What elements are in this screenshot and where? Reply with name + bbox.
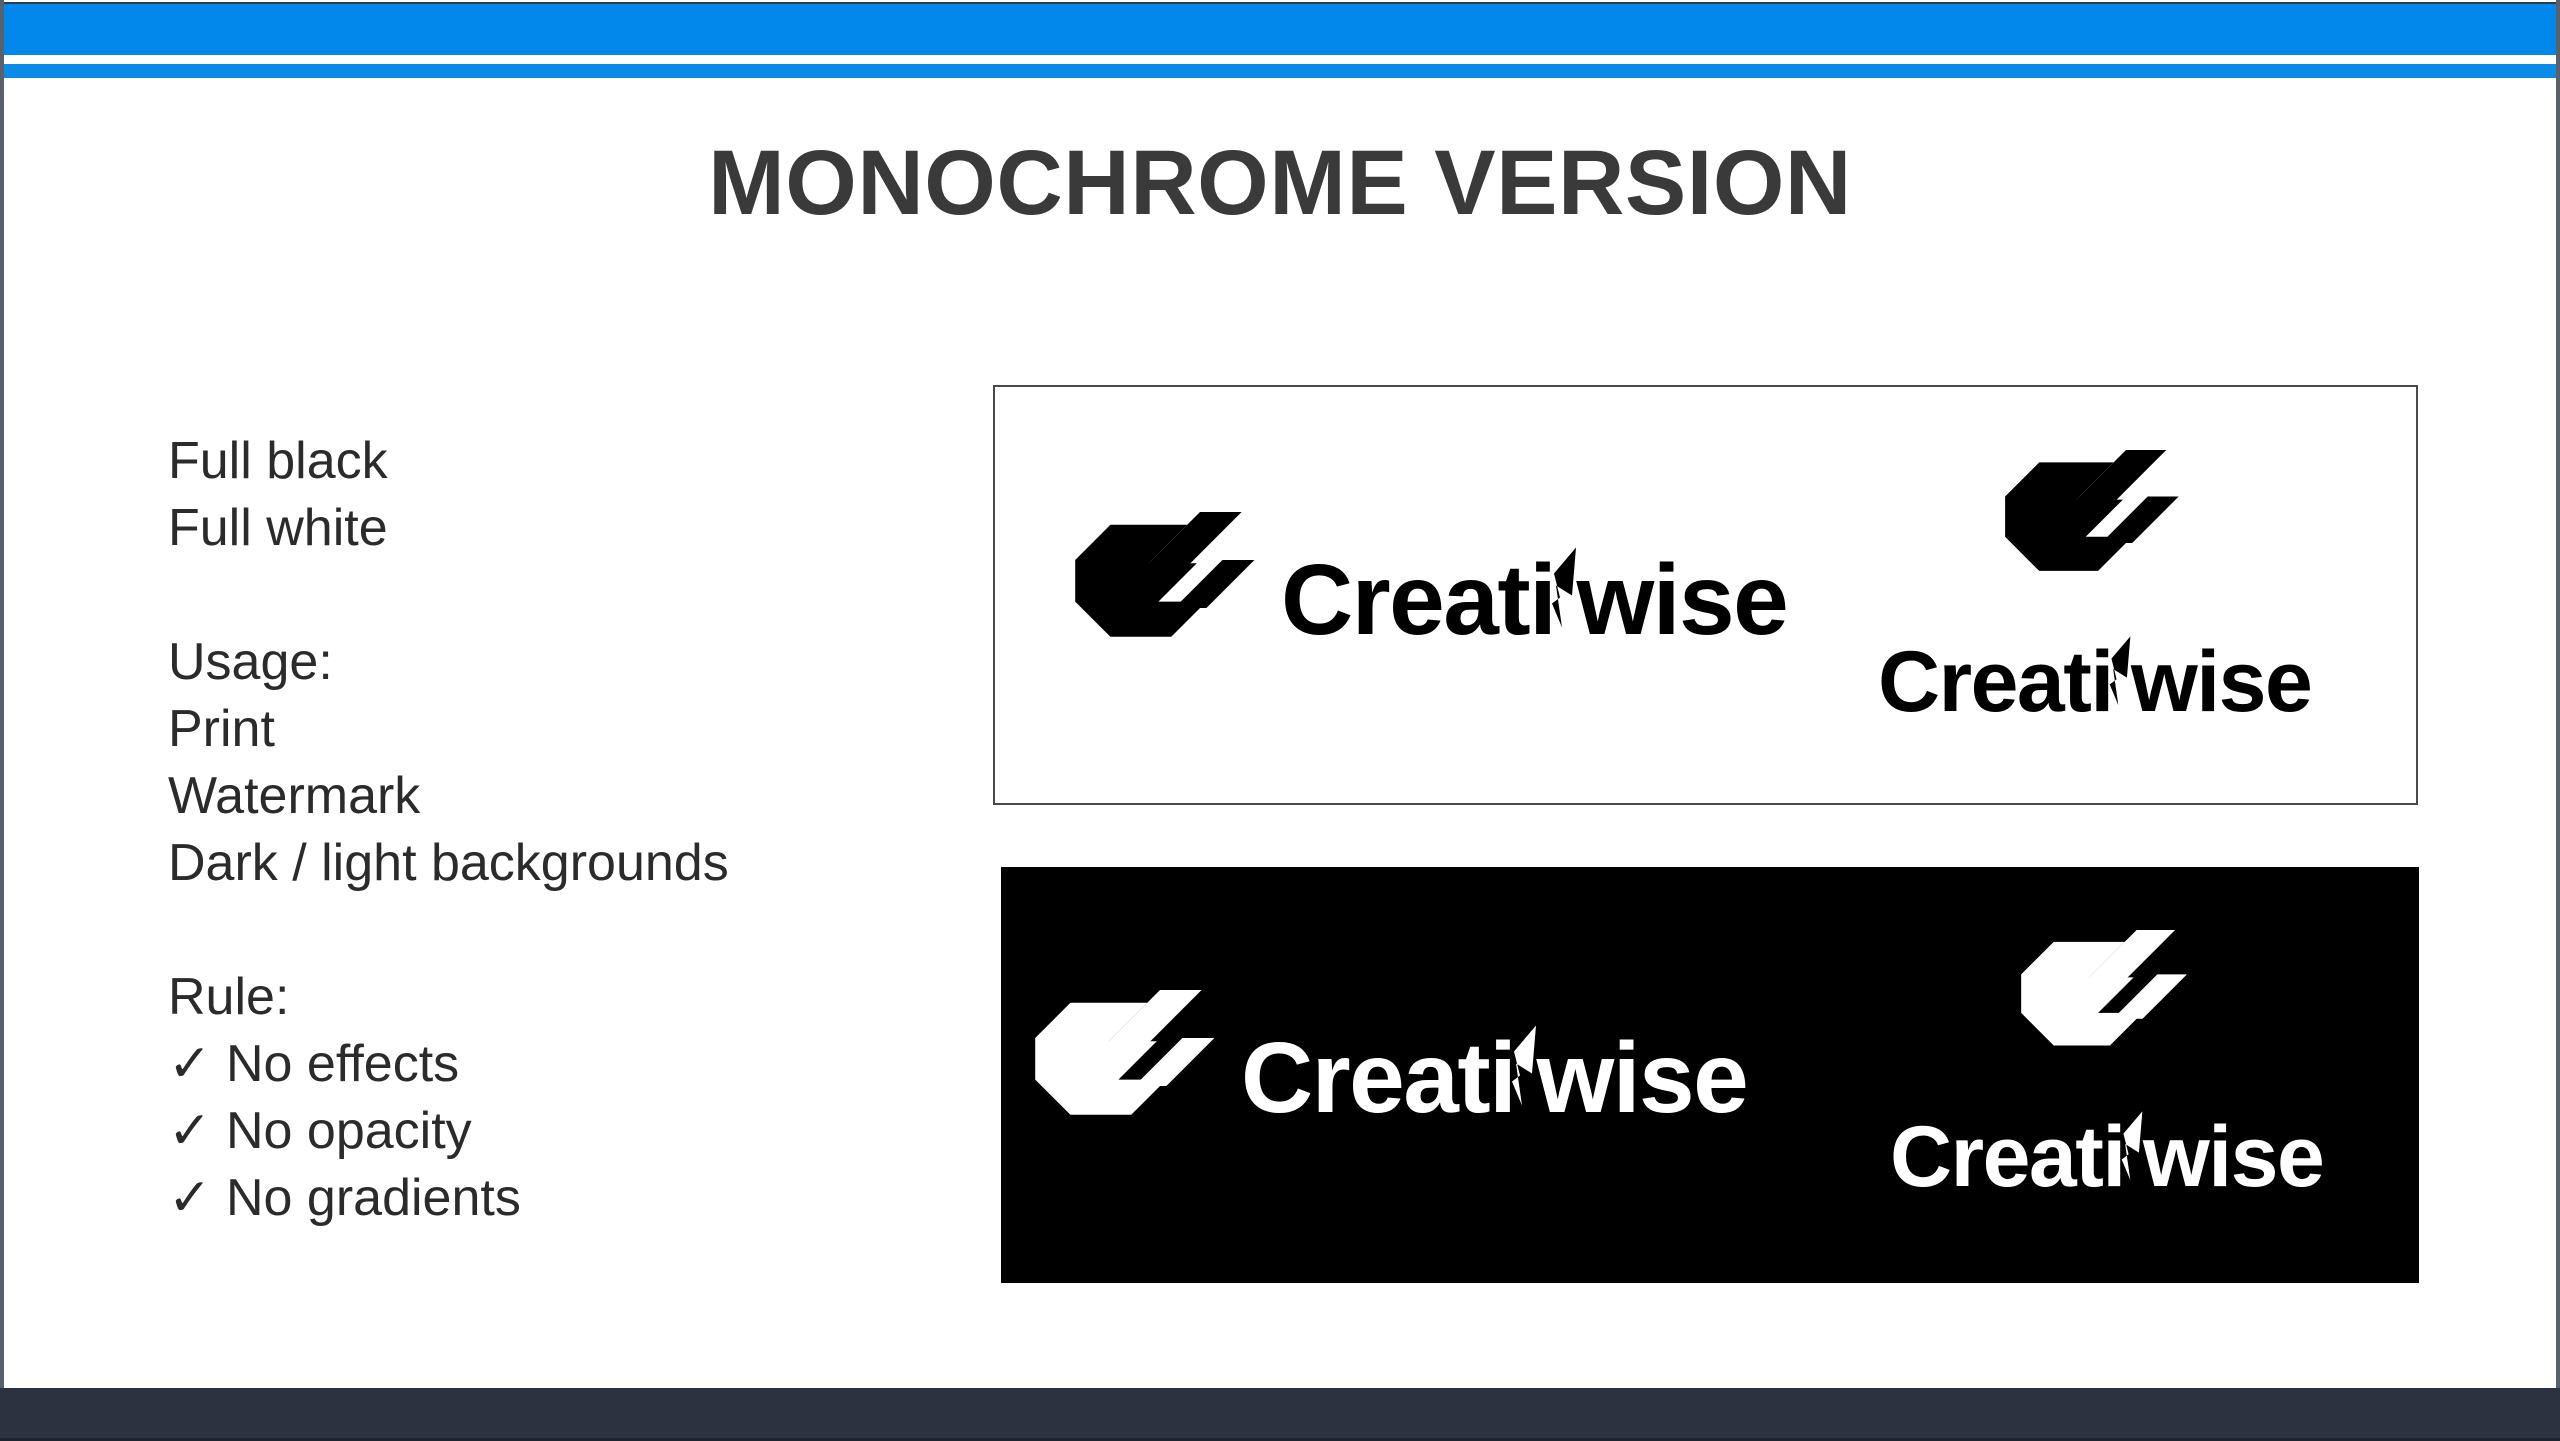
color-line-full-white: Full white <box>168 495 908 562</box>
rule-item-label: No gradients <box>226 1165 521 1232</box>
rule-heading: Rule: <box>168 964 908 1031</box>
creatiwise-mark-icon <box>1075 512 1261 672</box>
accent-bar-thin <box>4 64 2556 78</box>
spark-bolt-icon <box>2120 1100 2146 1186</box>
page-title: MONOCHROME VERSION <box>0 133 2560 234</box>
check-icon: ✓ <box>168 1165 226 1232</box>
spacer-2 <box>168 897 908 964</box>
logo-lockup-horizontal-white: Creatiwise <box>1035 990 1747 1150</box>
wordmark-part-creati: Creati <box>1241 1028 1515 1128</box>
rule-item-label: No effects <box>226 1031 459 1098</box>
top-accent-bars <box>0 0 2560 82</box>
wordmark-part-wise: wise <box>2143 1114 2323 1200</box>
wordmark-part-wise: wise <box>1536 1028 1747 1128</box>
guidelines-text-block: Full black Full white Usage: Print Water… <box>168 428 908 1232</box>
rule-item-no-effects: ✓ No effects <box>168 1031 908 1098</box>
rule-item-label: No opacity <box>226 1098 472 1165</box>
usage-item-watermark: Watermark <box>168 763 908 830</box>
spacer-1 <box>168 562 908 629</box>
usage-item-backgrounds: Dark / light backgrounds <box>168 830 908 897</box>
wordmark-part-creati: Creati <box>1890 1114 2125 1200</box>
rule-item-no-opacity: ✓ No opacity <box>168 1098 908 1165</box>
creatiwise-wordmark: Creatiwise <box>1878 625 2311 725</box>
spark-bolt-icon <box>1550 534 1580 634</box>
logo-lockup-horizontal-black: Creatiwise <box>1075 512 1787 672</box>
logo-lockup-stacked-black: Creatiwise <box>1878 450 2311 725</box>
rule-item-no-gradients: ✓ No gradients <box>168 1165 908 1232</box>
creatiwise-wordmark: Creatiwise <box>1281 534 1787 650</box>
creatiwise-mark-icon <box>2005 450 2185 605</box>
slide-canvas: MONOCHROME VERSION Full black Full white… <box>0 0 2560 1441</box>
creatiwise-wordmark: Creatiwise <box>1241 1012 1747 1128</box>
creatiwise-mark-icon <box>1035 990 1221 1150</box>
wordmark-part-creati: Creati <box>1878 639 2113 725</box>
wordmark-part-creati: Creati <box>1281 550 1555 650</box>
logo-lockup-stacked-white: Creatiwise <box>1890 930 2323 1200</box>
usage-item-print: Print <box>168 696 908 763</box>
usage-heading: Usage: <box>168 629 908 696</box>
check-icon: ✓ <box>168 1031 226 1098</box>
footer-bar <box>0 1388 2560 1441</box>
wordmark-part-wise: wise <box>2131 639 2311 725</box>
creatiwise-mark-icon <box>2021 930 2193 1078</box>
wordmark-part-wise: wise <box>1576 550 1787 650</box>
color-line-full-black: Full black <box>168 428 908 495</box>
check-icon: ✓ <box>168 1098 226 1165</box>
spark-bolt-icon <box>1510 1012 1540 1112</box>
creatiwise-wordmark: Creatiwise <box>1890 1100 2323 1200</box>
spark-bolt-icon <box>2108 625 2134 711</box>
accent-bar-thick <box>4 2 2556 55</box>
